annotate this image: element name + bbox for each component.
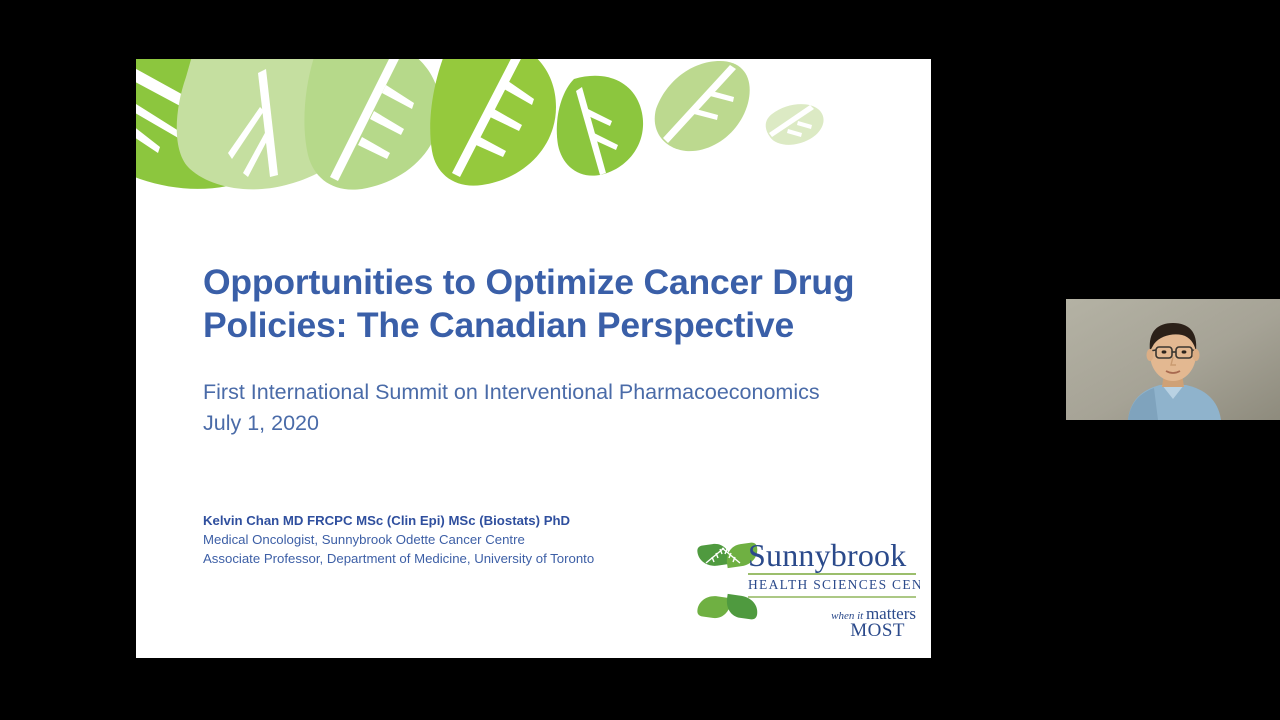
leaf-1-vein-b — [136, 85, 182, 139]
leaf-6-vein-b — [710, 91, 734, 102]
leaf-6-vein-c — [694, 109, 718, 120]
leaf-5-vein-b — [586, 109, 612, 126]
presenter-block: Kelvin Chan MD FRCPC MSc (Clin Epi) MSc … — [203, 511, 763, 568]
presenter-affiliation-secondary: Associate Professor, Department of Medic… — [203, 549, 763, 568]
presentation-stage: Opportunities to Optimize Cancer Drug Po… — [0, 0, 1280, 720]
subtitle-block: First International Summit on Interventi… — [203, 377, 903, 440]
leaf-1-vein-c — [136, 111, 160, 153]
video-ear-left — [1147, 349, 1154, 361]
video-frame-content — [1066, 299, 1280, 420]
leaf-1 — [136, 59, 323, 189]
leaf-6-vein — [663, 65, 736, 143]
leaf-4-vein-d — [476, 137, 506, 157]
leaf-shapes — [136, 59, 824, 190]
leaf-band-decoration — [136, 59, 931, 194]
leaf-2-vein-c — [243, 131, 270, 177]
leaf-6 — [655, 61, 750, 151]
slide-canvas: Opportunities to Optimize Cancer Drug Po… — [136, 59, 931, 658]
leaf-5-vein — [576, 87, 606, 175]
leaf-ul — [697, 542, 732, 568]
leaf-5-vein-c — [592, 133, 618, 150]
leaf-7-vein — [769, 105, 814, 137]
leaf-4-vein-c — [490, 109, 522, 131]
presenter-affiliation-primary: Medical Oncologist, Sunnybrook Odette Ca… — [203, 530, 763, 549]
leaf-4-vein — [452, 59, 524, 177]
leaf-ll — [697, 594, 732, 620]
logo-wordmark: Sunnybrook — [748, 537, 906, 573]
leaf-7-vein-c — [787, 129, 802, 137]
leaf-2-vein-b — [228, 107, 264, 159]
logo-subtitle: HEALTH SCIENCES CENTRE — [748, 577, 920, 592]
presenter-name: Kelvin Chan MD FRCPC MSc (Clin Epi) MSc … — [203, 511, 763, 530]
leaf-3-vein-b — [382, 85, 414, 109]
subtitle-date: July 1, 2020 — [203, 408, 903, 439]
leaf-7-vein-b — [797, 121, 812, 129]
leaf-1-vein — [136, 59, 274, 153]
presenter-video-tile[interactable] — [1066, 299, 1280, 420]
leaf-5 — [557, 76, 643, 176]
leaf-2 — [177, 59, 362, 189]
page-title: Opportunities to Optimize Cancer Drug Po… — [203, 261, 893, 346]
leaf-4 — [430, 59, 556, 186]
video-ear-right — [1193, 349, 1200, 361]
title-block: Opportunities to Optimize Cancer Drug Po… — [203, 261, 893, 346]
leaf-2-vein — [258, 69, 278, 177]
logo-tagline-line2: MOST — [850, 620, 905, 641]
video-eye-left — [1162, 350, 1167, 353]
leaf-7 — [766, 104, 824, 145]
leaf-3 — [304, 59, 440, 190]
subtitle-event: First International Summit on Interventi… — [203, 377, 903, 408]
video-eye-right — [1182, 350, 1187, 353]
leaf-3-vein-c — [370, 111, 404, 135]
leaf-3-vein — [330, 59, 402, 181]
leaf-4-vein-b — [504, 81, 534, 105]
leaf-3-vein-d — [358, 137, 390, 159]
leaf-lr — [725, 594, 760, 620]
sunnybrook-logo: Sunnybrook HEALTH SCIENCES CENTRE when i… — [692, 536, 920, 642]
